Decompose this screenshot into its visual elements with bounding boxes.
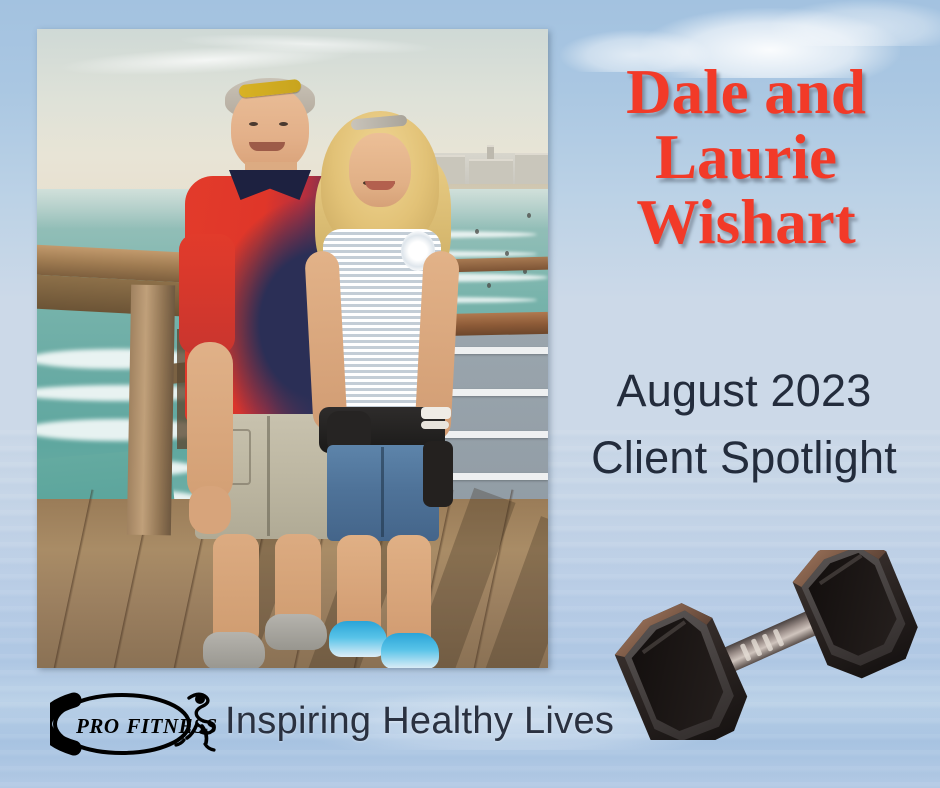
blue-sneaker [381,633,439,668]
title-line-3: Wishart [556,190,936,255]
title-line-1: Dale and [556,60,936,125]
left-arm [187,342,233,502]
tagline: Inspiring Healthy Lives [225,700,614,743]
pro-fitness-logo[interactable]: PROFITNESS [50,686,225,762]
client-spotlight-poster: Dale and Laurie Wishart August 2023 Clie… [0,0,940,788]
client-photo [37,29,548,668]
blue-sneaker [329,621,387,657]
subtitle-line-month: August 2023 [548,358,940,425]
smile [249,142,285,151]
gray-loafer [203,632,265,668]
face [231,86,309,172]
client-name-heading: Dale and Laurie Wishart [556,60,936,255]
shirt-sleeve [179,234,235,354]
logo-brand-text: PROFITNESS [75,714,218,738]
denim-seam [381,447,384,537]
title-line-2: Laurie [556,125,936,190]
person-laurie [315,111,455,656]
shorts-seam [267,416,270,536]
smile [365,181,395,190]
bracelet [421,421,449,429]
left-hand [189,486,231,534]
pier-post [127,285,175,536]
logo-word-pro: PRO [75,714,120,738]
small-bag [423,441,453,507]
wristwatch [421,407,451,419]
spotlight-subtitle: August 2023 Client Spotlight [548,358,940,491]
subtitle-line-label: Client Spotlight [548,425,940,492]
left-leg [213,534,259,646]
face [349,133,411,207]
cloud-decoration [770,0,940,46]
hex-dumbbell-icon [602,550,932,740]
logo-word-fitness: FITNESS [126,714,218,738]
